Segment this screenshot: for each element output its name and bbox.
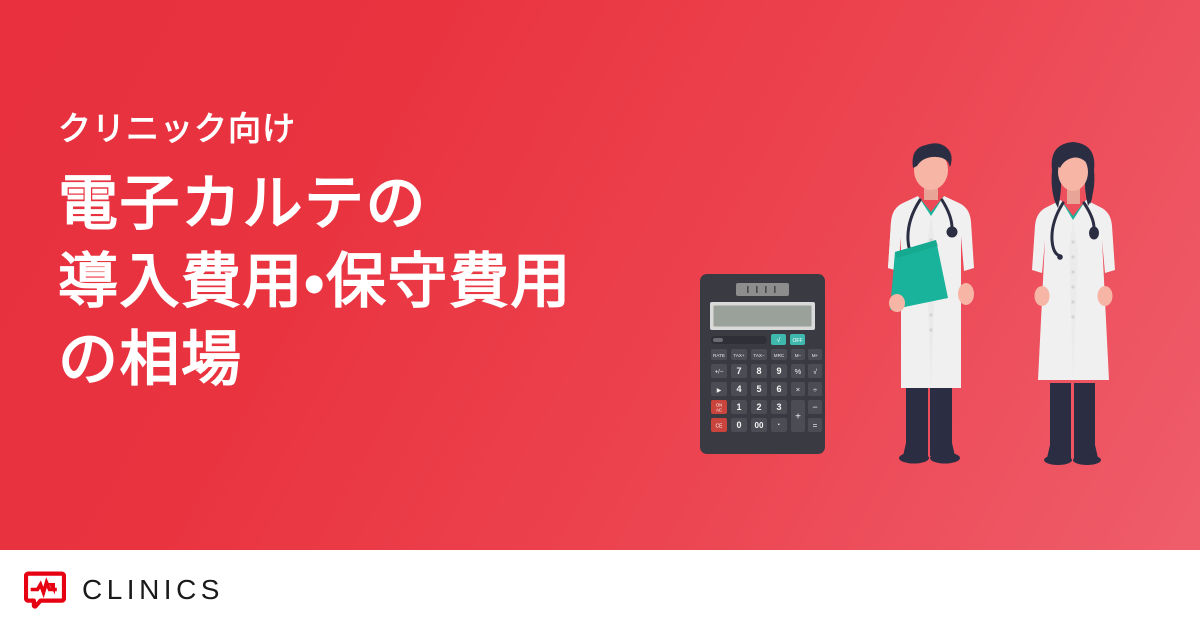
headline-block: クリニック向け 電子カルテの 導入費用・保守費用 の相場 (58, 108, 738, 399)
svg-text:00: 00 (755, 421, 764, 430)
title-line-1: 電子カルテの (58, 165, 738, 243)
svg-text:×: × (796, 385, 800, 394)
svg-text:3: 3 (776, 402, 781, 412)
svg-text:OFF: OFF (793, 338, 803, 344)
svg-text:2: 2 (756, 402, 761, 412)
svg-text:M+: M+ (812, 353, 819, 358)
svg-text:M−: M− (795, 353, 802, 358)
footer-bar: CLINICS (0, 550, 1200, 630)
title-line-3: の相場 (58, 321, 738, 399)
illustration-group: √ OFF RATE TAX+ TAX− MRC M− M+ (660, 140, 1200, 480)
svg-text:√: √ (777, 336, 781, 344)
svg-text:5: 5 (756, 384, 761, 394)
kicker-text: クリニック向け (58, 108, 738, 149)
svg-text:1: 1 (736, 402, 741, 412)
male-doctor-with-folder (888, 143, 974, 463)
svg-text:+: + (795, 412, 801, 423)
svg-text:·: · (778, 420, 781, 430)
svg-text:AC: AC (716, 407, 722, 412)
svg-text:0: 0 (736, 420, 741, 430)
svg-text:CE: CE (716, 424, 724, 430)
illustration-svg: √ OFF RATE TAX+ TAX− MRC M− M+ (660, 140, 1200, 480)
svg-text:−: − (812, 402, 817, 412)
svg-text:=: = (813, 421, 818, 430)
svg-text:%: % (795, 367, 802, 376)
svg-text:9: 9 (776, 366, 781, 376)
svg-text:÷: ÷ (813, 385, 817, 394)
clinics-logo[interactable]: CLINICS (24, 571, 224, 609)
svg-text:6: 6 (776, 384, 781, 394)
hero-background: √ OFF RATE TAX+ TAX− MRC M− M+ (0, 0, 1200, 550)
clinics-speech-bubble-ecg-mark (24, 571, 66, 609)
svg-text:TAX−: TAX− (753, 353, 765, 358)
og-banner-canvas: √ OFF RATE TAX+ TAX− MRC M− M+ (0, 0, 1200, 630)
svg-text:√: √ (813, 368, 817, 376)
clinics-wordmark: CLINICS (82, 576, 224, 604)
title-line-2: 導入費用・保守費用 (58, 243, 738, 321)
female-doctor (1032, 142, 1115, 465)
svg-text:8: 8 (756, 366, 761, 376)
svg-text:MRC: MRC (774, 353, 785, 358)
page-title: 電子カルテの 導入費用・保守費用 の相場 (58, 165, 738, 399)
